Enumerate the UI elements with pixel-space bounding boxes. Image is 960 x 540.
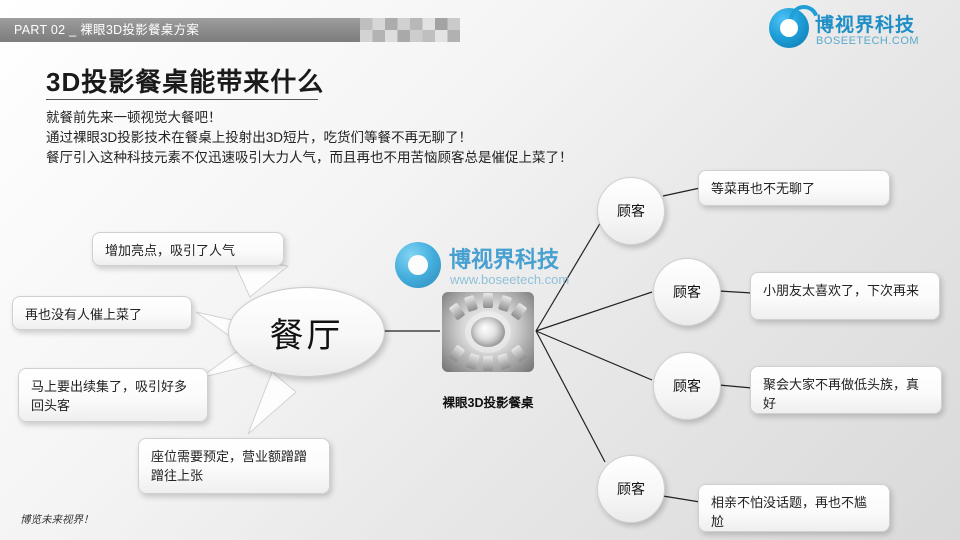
device-spoke	[449, 302, 466, 320]
device-spoke	[466, 353, 480, 370]
page-title: 3D投影餐桌能带来什么	[46, 62, 324, 99]
device-spoke	[497, 353, 511, 370]
intro-paragraph: 就餐前先来一顿视觉大餐吧！ 通过裸眼3D投影技术在餐桌上投射出3D短片，吃货们等…	[46, 108, 573, 168]
device-spoke	[483, 356, 493, 371]
callout-right-2-text: 小朋友太喜欢了，下次再来	[763, 283, 919, 298]
callout-left-4: 座位需要预定，营业额蹭蹭蹭往上张	[138, 438, 330, 494]
customer-node-3: 顾客	[653, 352, 721, 420]
customer-node-3-label: 顾客	[673, 376, 701, 396]
callout-right-1-text: 等菜再也不无聊了	[711, 181, 815, 196]
projector-hub-icon	[471, 317, 505, 347]
header-label: PART 02 _ 裸眼3D投影餐桌方案	[14, 23, 199, 37]
customer-node-4-label: 顾客	[617, 479, 645, 499]
callout-right-3-text: 聚会大家不再做低头族，真好	[763, 377, 919, 411]
watermark-logo: 博视界科技 www.boseetech.com	[395, 238, 615, 300]
callout-right-3: 聚会大家不再做低头族，真好	[750, 366, 942, 414]
customer-node-2: 顾客	[653, 258, 721, 326]
logo-company-name: 博视界科技	[815, 10, 915, 37]
device-spoke	[449, 344, 466, 362]
callout-right-2: 小朋友太喜欢了，下次再来	[750, 272, 940, 320]
callout-left-4-text: 座位需要预定，营业额蹭蹭蹭往上张	[151, 449, 307, 483]
customer-node-1-label: 顾客	[617, 201, 645, 221]
callout-left-1: 增加亮点，吸引了人气	[92, 232, 284, 266]
device-spoke	[511, 302, 528, 320]
callout-right-1: 等菜再也不无聊了	[698, 170, 890, 206]
center-node-restaurant: 餐厅	[228, 287, 385, 377]
intro-line-2: 通过裸眼3D投影技术在餐桌上投射出3D短片，吃货们等餐不再无聊了！	[46, 128, 573, 148]
brand-logo: 博视界科技 BOSEETECH.COM	[769, 6, 944, 52]
intro-line-3: 餐厅引入这种科技元素不仅迅速吸引大力人气，而且再也不用苦恼顾客总是催促上菜了！	[46, 148, 573, 168]
watermark-url: www.boseetech.com	[450, 272, 569, 287]
callout-right-4: 相亲不怕没话题，再也不尴尬	[698, 484, 890, 532]
center-node-label: 餐厅	[270, 308, 344, 357]
device-caption: 裸眼3D投影餐桌	[418, 392, 558, 411]
intro-line-1: 就餐前先来一顿视觉大餐吧！	[46, 108, 573, 128]
customer-node-1: 顾客	[597, 177, 665, 245]
customer-node-2-label: 顾客	[673, 282, 701, 302]
callout-right-4-text: 相亲不怕没话题，再也不尴尬	[711, 495, 867, 529]
watermark-eye-icon	[395, 242, 441, 288]
callout-left-1-text: 增加亮点，吸引了人气	[105, 243, 235, 258]
callout-left-3-text: 马上要出续集了，吸引好多回头客	[31, 379, 187, 413]
footer-slogan: 博览未来视界！	[20, 512, 94, 527]
projection-table-image	[442, 292, 534, 372]
callout-left-2-text: 再也没有人催上菜了	[25, 307, 142, 322]
callout-left-3: 马上要出续集了，吸引好多回头客	[18, 368, 208, 422]
section-header-bar: PART 02 _ 裸眼3D投影餐桌方案	[0, 18, 360, 42]
logo-domain-text: BOSEETECH.COM	[816, 35, 919, 47]
title-underline	[46, 99, 318, 100]
device-spoke	[511, 344, 528, 362]
watermark-company-name: 博视界科技	[449, 242, 559, 274]
callout-left-2: 再也没有人催上菜了	[12, 296, 192, 330]
logo-eye-icon	[769, 8, 809, 48]
header-mosaic-block	[360, 18, 460, 42]
customer-node-4: 顾客	[597, 455, 665, 523]
